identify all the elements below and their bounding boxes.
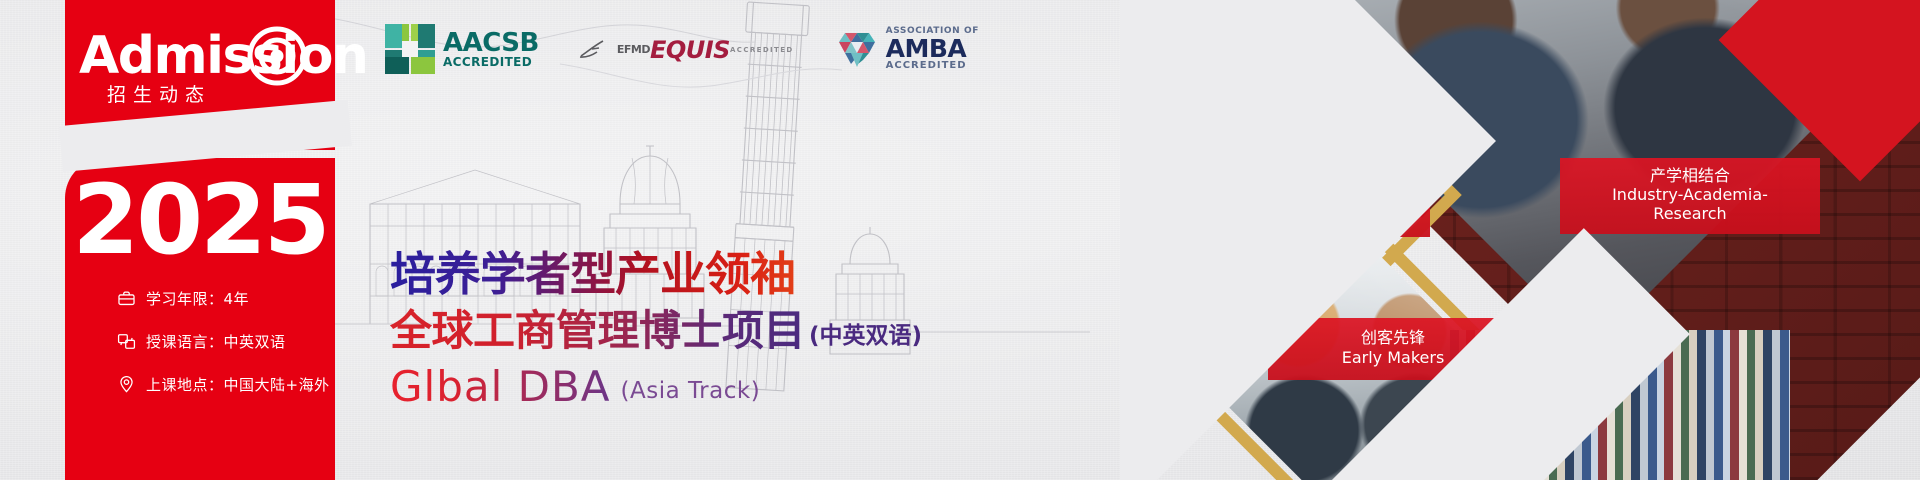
banner-root: Admission 招生动态 2025 学习年限：4年 — [0, 0, 1920, 480]
headline-title-cn-suffix: (中英双语) — [809, 316, 922, 354]
admission-title-cn: 招生动态 — [107, 80, 211, 107]
amba-label: AMBA — [886, 36, 979, 61]
amba-sublabel: ACCREDITED — [886, 61, 979, 71]
feature-en-industry-line2: Research — [1560, 204, 1820, 223]
headline-title-en-suffix: (Asia Track) — [621, 378, 761, 408]
info-text-language: 授课语言：中英双语 — [146, 331, 286, 352]
equis-logo: EFMD EQUIS ACCREDITED — [579, 36, 794, 62]
headline-title-en: Glbal DBA — [390, 366, 611, 408]
admission-info-list: 学习年限：4年 授课语言：中英双语 上课地点：中国大陆+海外 — [65, 288, 335, 417]
briefcase-icon — [117, 289, 136, 308]
admission-badge-panel: Admission 招生动态 2025 学习年限：4年 — [65, 0, 335, 480]
amba-logo: ASSOCIATION OF AMBA ACCREDITED — [834, 26, 979, 72]
info-row-language: 授课语言：中英双语 — [117, 331, 335, 352]
amba-diamond-icon — [834, 26, 880, 72]
equis-sublabel: ACCREDITED — [730, 47, 794, 54]
aacsb-sublabel: ACCREDITED — [443, 56, 539, 68]
location-pin-icon — [117, 375, 136, 394]
target-bullseye-icon — [247, 26, 307, 86]
photo-collage: 卓越学术 Academic Rigor 产学相结合 Industry-Acade… — [1120, 0, 1920, 480]
info-text-duration: 学习年限：4年 — [146, 288, 249, 309]
efmd-label: EFMD — [617, 44, 650, 55]
info-row-location: 上课地点：中国大陆+海外 — [117, 374, 335, 395]
feature-cn-industry: 产学相结合 — [1560, 166, 1820, 185]
accreditation-logos: AACSB ACCREDITED EFMD EQUIS ACCREDITED — [385, 24, 979, 74]
efmd-swoosh-icon — [579, 39, 613, 59]
aacsb-label: AACSB — [443, 30, 539, 56]
admission-title-group: Admission 招生动态 — [65, 18, 335, 114]
admission-year: 2025 — [65, 172, 335, 268]
headline-slogan: 培养学者型产业领袖 — [390, 250, 1150, 298]
speech-bubble-icon — [117, 332, 136, 351]
aacsb-squares-icon — [385, 24, 435, 74]
admission-title-en: Admission — [79, 30, 367, 82]
feature-label-industry-research: 产学相结合 Industry-Academia- Research — [1560, 158, 1820, 234]
aacsb-logo: AACSB ACCREDITED — [385, 24, 539, 74]
headline-title-cn: 全球工商管理博士项目 — [390, 308, 805, 354]
info-row-duration: 学习年限：4年 — [117, 288, 335, 309]
equis-label: EQUIS — [650, 38, 730, 62]
headline-group: 培养学者型产业领袖 全球工商管理博士项目 (中英双语) Glbal DBA (A… — [390, 250, 1150, 408]
feature-en-industry-line1: Industry-Academia- — [1560, 185, 1820, 204]
info-text-location: 上课地点：中国大陆+海外 — [146, 374, 330, 395]
